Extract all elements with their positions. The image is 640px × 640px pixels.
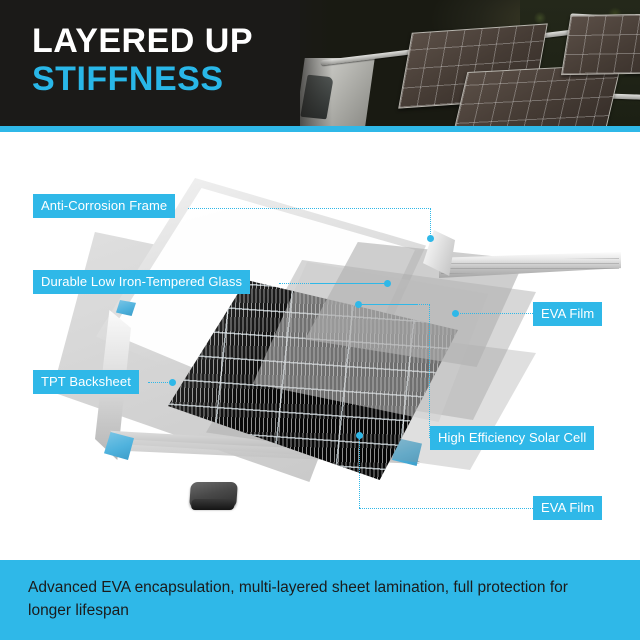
leader-line-eva-film-bottom-horizontal	[359, 508, 535, 509]
leader-dot-eva-film-top	[452, 310, 459, 317]
callout-high-efficiency-solar-cell[interactable]: High Efficiency Solar Cell	[430, 426, 594, 450]
header-banner: LAYERED UP STIFFNESS	[0, 0, 640, 126]
callout-eva-film-top[interactable]: EVA Film	[533, 302, 602, 326]
leader-line-anti-corrosion-frame-vertical	[430, 208, 431, 238]
junction-box	[189, 482, 238, 508]
callout-label-text: EVA Film	[541, 500, 594, 515]
footer-banner: Advanced EVA encapsulation, multi-layere…	[0, 560, 640, 640]
header-title-block: LAYERED UP STIFFNESS	[32, 22, 253, 98]
leader-line-solar-cell-solid	[362, 304, 417, 305]
leader-dot-eva-film-bottom	[356, 432, 363, 439]
leader-dot-glass	[384, 280, 391, 287]
callout-label-text: Anti-Corrosion Frame	[41, 198, 167, 213]
leader-dot-tpt-backsheet	[169, 379, 176, 386]
leader-line-solar-cell-vertical	[429, 304, 430, 438]
page-title-line2: STIFFNESS	[32, 60, 253, 98]
leader-line-glass-solid	[310, 283, 388, 284]
photo-solar-panel-3	[561, 13, 640, 75]
callout-label-text: Durable Low Iron-Tempered Glass	[41, 274, 242, 289]
exploded-diagram: Anti-Corrosion Frame Durable Low Iron-Te…	[0, 132, 640, 556]
callout-eva-film-bottom[interactable]: EVA Film	[533, 496, 602, 520]
leader-dot-anti-corrosion-frame	[427, 235, 434, 242]
callout-anti-corrosion-frame[interactable]: Anti-Corrosion Frame	[33, 194, 175, 218]
page-title-line1: LAYERED UP	[32, 22, 253, 60]
infographic-page: LAYERED UP STIFFNESS	[0, 0, 640, 640]
aluminum-frame-corner	[415, 230, 620, 292]
callout-tpt-backsheet[interactable]: TPT Backsheet	[33, 370, 139, 394]
leader-line-eva-film-top	[457, 313, 535, 314]
footer-description: Advanced EVA encapsulation, multi-layere…	[28, 576, 608, 622]
callout-label-text: TPT Backsheet	[41, 374, 131, 389]
leader-line-anti-corrosion-frame-horizontal	[188, 208, 431, 209]
callout-label-text: EVA Film	[541, 306, 594, 321]
callout-durable-low-iron-tempered-glass[interactable]: Durable Low Iron-Tempered Glass	[33, 270, 250, 294]
header-photo-fade	[286, 0, 332, 126]
leader-line-eva-film-bottom-vertical	[359, 436, 360, 508]
van-roof-photo	[300, 0, 640, 126]
callout-label-text: High Efficiency Solar Cell	[438, 430, 586, 445]
leader-dot-solar-cell	[355, 301, 362, 308]
